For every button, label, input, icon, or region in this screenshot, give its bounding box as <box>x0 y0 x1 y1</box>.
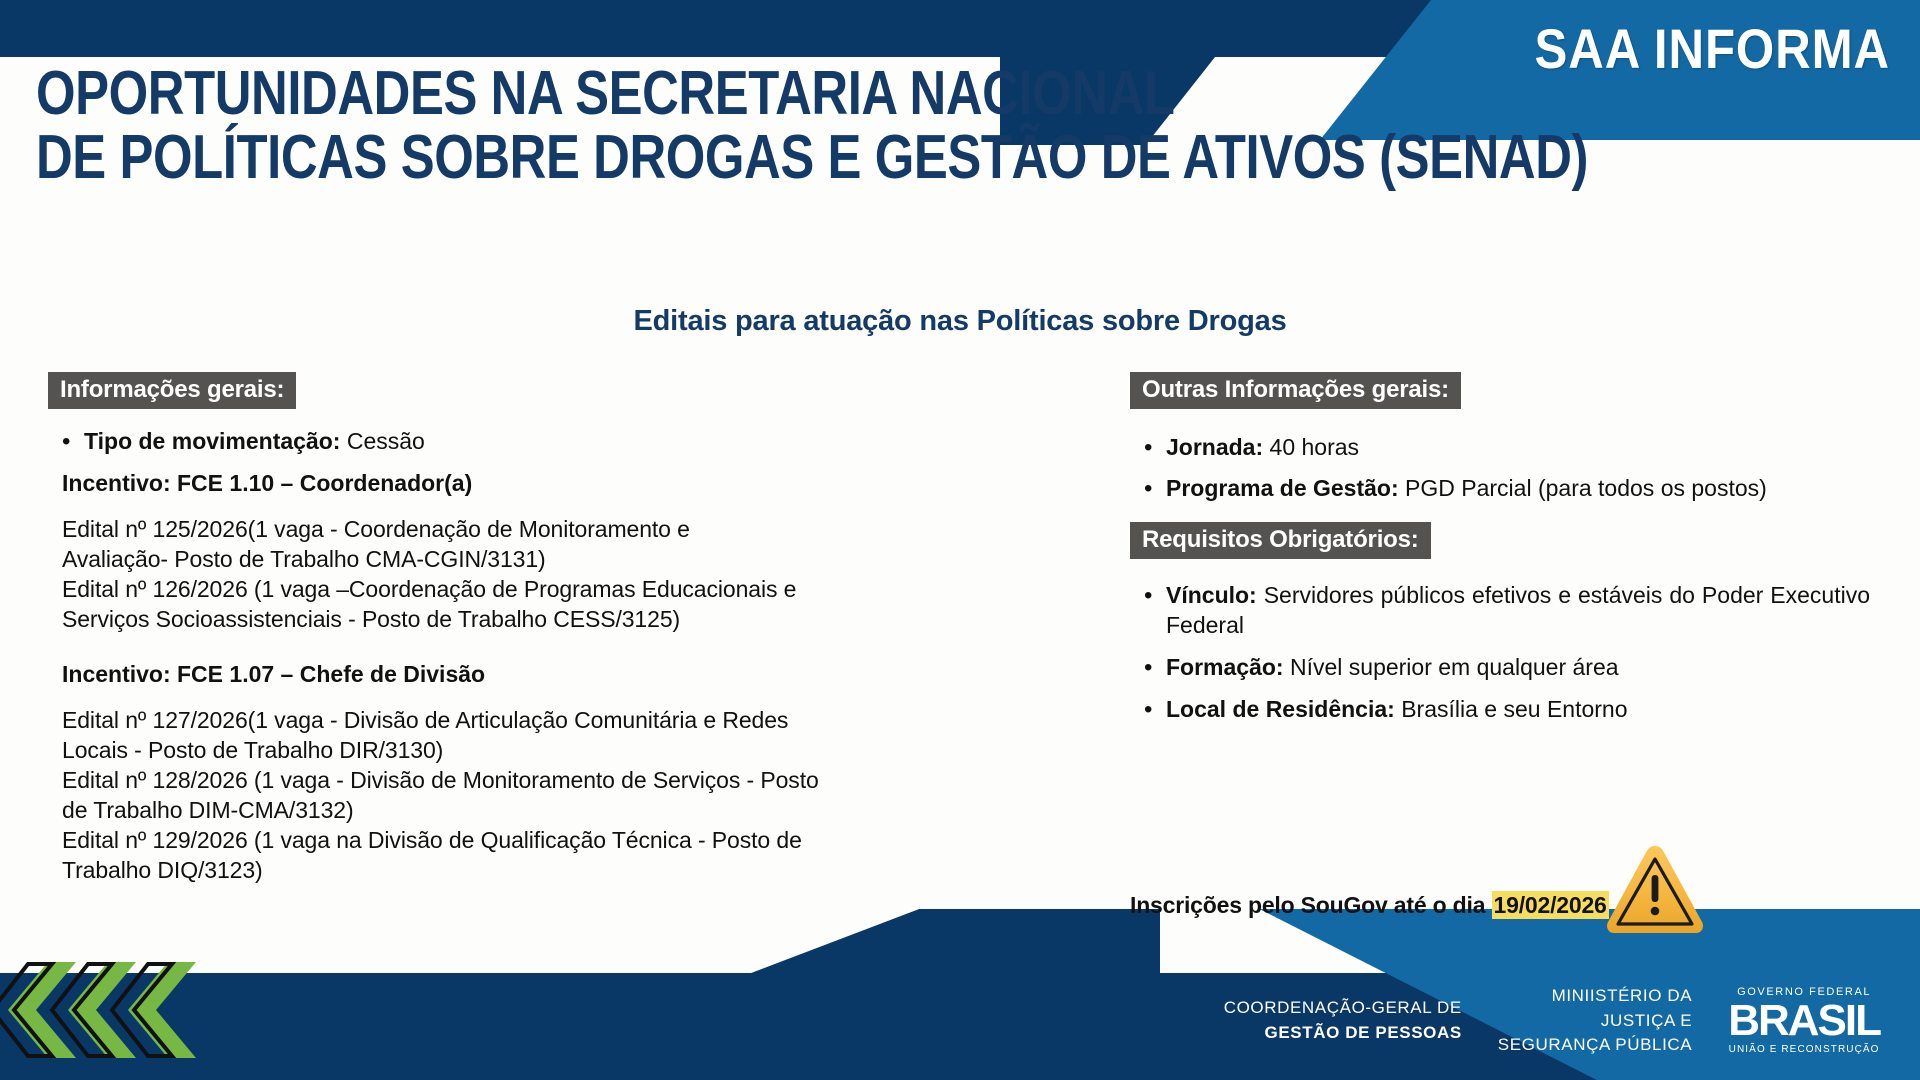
bullet-value: Servidores públicos efetivos e estáveis … <box>1166 582 1870 638</box>
edital-line: Avaliação- Posto de Trabalho CMA-CGIN/31… <box>62 545 878 575</box>
bullet-value: 40 horas <box>1270 434 1360 460</box>
list-item: Programa de Gestão: PGD Parcial (para to… <box>1166 474 1870 504</box>
right-bullet-list-2: Vínculo: Servidores públicos efetivos e … <box>1130 581 1870 725</box>
chevron-decoration-icon <box>0 960 200 1070</box>
poster-canvas: SAA INFORMA OPORTUNIDADES NA SECRETARIA … <box>0 0 1920 1080</box>
list-item: Local de Residência: Brasília e seu Ento… <box>1166 695 1870 725</box>
footer-cggp-line-2: GESTÃO DE PESSOAS <box>1224 1021 1462 1046</box>
edital-line: Locais - Posto de Trabalho DIR/3130) <box>62 736 878 766</box>
bullet-label: Jornada: <box>1166 434 1263 460</box>
footer-mjsp-line-3: SEGURANÇA PÚBLICA <box>1498 1033 1692 1058</box>
warning-icon <box>1603 842 1707 943</box>
editais-group-2: Edital nº 127/2026(1 vaga - Divisão de A… <box>62 706 878 885</box>
footer-cggp-line-1: COORDENAÇÃO-GERAL DE <box>1224 996 1462 1021</box>
footer-cggp-logo: COORDENAÇÃO-GERAL DE GESTÃO DE PESSOAS <box>1224 996 1462 1045</box>
left-bullet-list: Tipo de movimentação: Cessão <box>48 427 878 457</box>
brasil-logo: GOVERNO FEDERAL BRASIL UNIÃO E RECONSTRU… <box>1728 987 1880 1054</box>
left-column: Informações gerais: Tipo de movimentação… <box>48 372 878 885</box>
deadline-prefix: Inscrições pelo SouGov até o dia <box>1130 892 1492 918</box>
section-tag-requisitos-obrigatorios: Requisitos Obrigatórios: <box>1130 522 1431 559</box>
section-tag-informacoes-gerais: Informações gerais: <box>48 372 296 409</box>
edital-line: Trabalho DIQ/3123) <box>62 856 878 886</box>
bullet-value: Cessão <box>347 428 425 454</box>
list-item: Tipo de movimentação: Cessão <box>84 427 878 457</box>
right-column: Outras Informações gerais: Jornada: 40 h… <box>1130 372 1870 737</box>
incentivo-fce-107: Incentivo: FCE 1.07 – Chefe de Divisão <box>62 661 878 688</box>
edital-line: Edital nº 126/2026 (1 vaga –Coordenação … <box>62 575 878 605</box>
bullet-label: Formação: <box>1166 654 1284 680</box>
right-bullet-list-1: Jornada: 40 horas Programa de Gestão: PG… <box>1130 433 1870 505</box>
bullet-label: Vínculo: <box>1166 582 1257 608</box>
footer-mjsp-logo: MINIISTÉRIO DA JUSTIÇA E SEGURANÇA PÚBLI… <box>1498 984 1692 1058</box>
edital-line: Edital nº 129/2026 (1 vaga na Divisão de… <box>62 826 878 856</box>
page-title-line-1: OPORTUNIDADES NA SECRETARIA NACIONAL <box>36 62 1184 126</box>
edital-line: Edital nº 127/2026(1 vaga - Divisão de A… <box>62 706 878 736</box>
right-section-tag-wrap-1: Outras Informações gerais: <box>1130 372 1870 409</box>
deadline-text: Inscrições pelo SouGov até o dia 19/02/2… <box>1130 892 1609 919</box>
footer-mjsp-line-1: MINIISTÉRIO DA <box>1498 984 1692 1009</box>
page-title: OPORTUNIDADES NA SECRETARIA NACIONAL DE … <box>36 62 1436 191</box>
page-title-line-2: DE POLÍTICAS SOBRE DROGAS E GESTÃO DE AT… <box>36 126 1184 190</box>
brasil-logo-bottom: UNIÃO E RECONSTRUÇÃO <box>1728 1045 1880 1055</box>
bullet-value: Nível superior em qualquer área <box>1290 654 1619 680</box>
deadline-date: 19/02/2026 <box>1492 891 1609 919</box>
bullet-value: PGD Parcial (para todos os postos) <box>1405 475 1767 501</box>
edital-line: Serviços Socioassistenciais - Posto de T… <box>62 605 878 635</box>
editais-group-1: Edital nº 125/2026(1 vaga - Coordenação … <box>62 515 878 635</box>
bullet-label: Programa de Gestão: <box>1166 475 1399 501</box>
list-item: Formação: Nível superior em qualquer áre… <box>1166 653 1870 683</box>
bullet-value: Brasília e seu Entorno <box>1401 696 1627 722</box>
section-tag-outras-informacoes-gerais: Outras Informações gerais: <box>1130 372 1461 409</box>
footer-navy-wedge <box>600 909 1160 973</box>
left-section-tag-wrap: Informações gerais: <box>48 372 878 409</box>
edital-line: Edital nº 128/2026 (1 vaga - Divisão de … <box>62 766 878 796</box>
bullet-label: Tipo de movimentação: <box>84 428 340 454</box>
page-subtitle: Editais para atuação nas Políticas sobre… <box>0 305 1920 338</box>
footer-content: COORDENAÇÃO-GERAL DE GESTÃO DE PESSOAS M… <box>1224 984 1880 1058</box>
footer-mjsp-line-2: JUSTIÇA E <box>1498 1009 1692 1034</box>
deadline-callout: Inscrições pelo SouGov até o dia 19/02/2… <box>1130 868 1707 943</box>
brasil-logo-word: BRASIL <box>1728 1001 1880 1041</box>
incentivo-fce-110: Incentivo: FCE 1.10 – Coordenador(a) <box>62 470 878 497</box>
saa-informa-badge: SAA INFORMA <box>1534 16 1890 81</box>
list-item: Jornada: 40 horas <box>1166 433 1870 463</box>
list-item: Vínculo: Servidores públicos efetivos e … <box>1166 581 1870 641</box>
right-section-tag-wrap-2: Requisitos Obrigatórios: <box>1130 522 1870 559</box>
bullet-label: Local de Residência: <box>1166 696 1395 722</box>
edital-line: Edital nº 125/2026(1 vaga - Coordenação … <box>62 515 878 545</box>
edital-line: de Trabalho DIM-CMA/3132) <box>62 796 878 826</box>
